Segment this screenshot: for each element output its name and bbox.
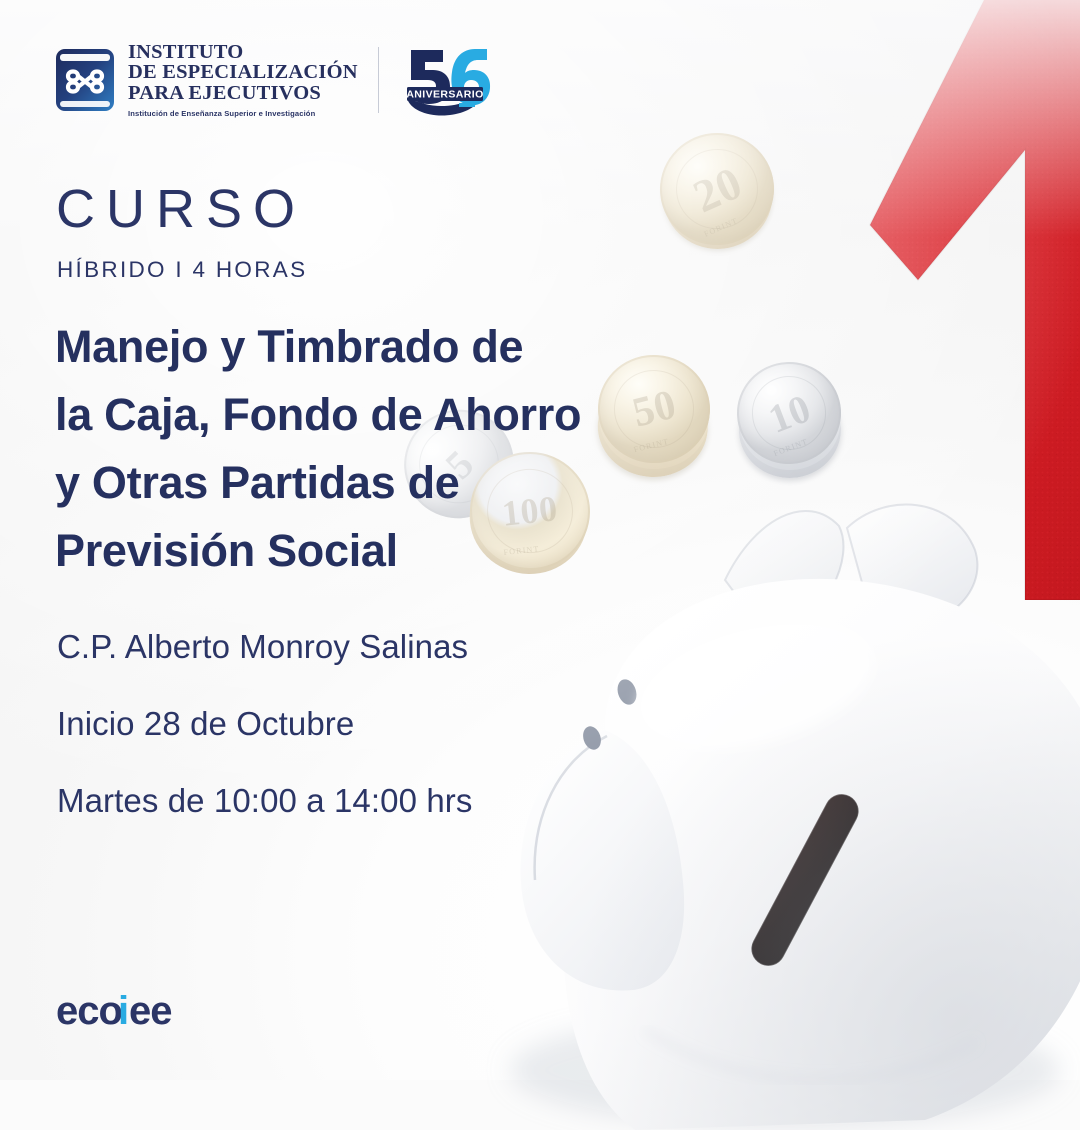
course-title-line-2: la Caja, Fondo de Ahorro — [55, 381, 755, 449]
iee-logo-icon — [56, 49, 114, 111]
course-title: Manejo y Timbrado de la Caja, Fondo de A… — [55, 313, 755, 585]
anniversary-label-text: ANIVERSARIO — [406, 89, 483, 101]
header-divider — [378, 47, 379, 113]
header-logos: INSTITUTO DE ESPECIALIZACIÓN PARA EJECUT… — [56, 40, 493, 120]
course-title-line-1: Manejo y Timbrado de — [55, 313, 755, 381]
ecoiee-text-i: i — [118, 991, 128, 1033]
course-title-line-3: y Otras Partidas de — [55, 449, 755, 517]
institute-line-3: PARA EJECUTIVOS — [128, 83, 358, 104]
course-title-line-4: Previsión Social — [55, 517, 755, 585]
ecoiee-text-ee: ee — [129, 991, 172, 1033]
schedule: Martes de 10:00 a 14:00 hrs — [57, 784, 472, 817]
course-format: HÍBRIDO I 4 HORAS — [57, 257, 307, 283]
ecoiee-logo: eco i ee — [56, 991, 188, 1033]
institute-tagline: Institución de Enseñanza Superior e Inve… — [128, 109, 358, 118]
institute-line-1: INSTITUTO — [128, 42, 358, 63]
course-details: C.P. Alberto Monroy Salinas Inicio 28 de… — [57, 630, 472, 817]
institute-line-2: DE ESPECIALIZACIÓN — [128, 62, 358, 83]
instructor-name: C.P. Alberto Monroy Salinas — [57, 630, 472, 663]
page-title: CURSO — [56, 182, 306, 236]
anniversary-badge: ANIVERSARIO — [397, 40, 493, 120]
start-date: Inicio 28 de Octubre — [57, 707, 472, 740]
ecoiee-text-eco: eco — [56, 991, 122, 1033]
institute-name: INSTITUTO DE ESPECIALIZACIÓN PARA EJECUT… — [128, 42, 358, 119]
